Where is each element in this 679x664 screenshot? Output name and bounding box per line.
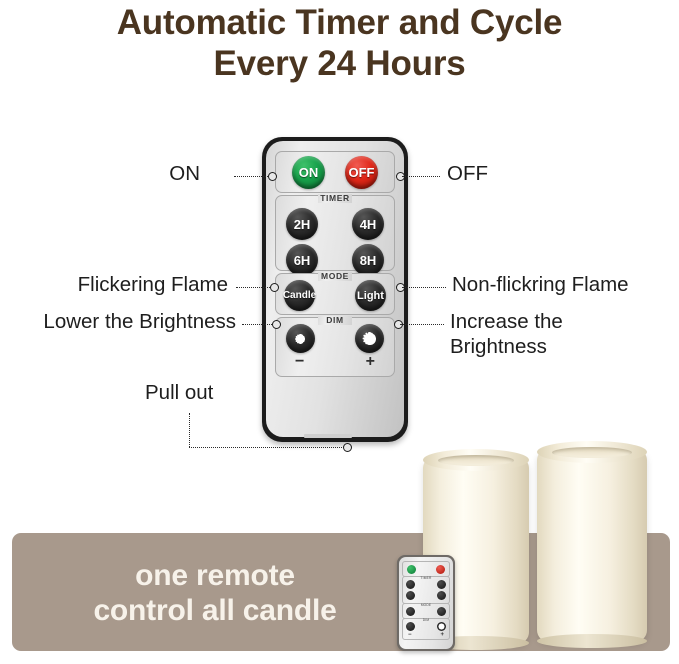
mini-dim-up-button xyxy=(437,622,446,631)
sun-large-icon xyxy=(359,328,381,350)
mini-2h-button xyxy=(406,580,415,589)
remote-face: ON OFF TIMER 2H 4H 6H 8H MODE Candle Lig… xyxy=(266,141,404,437)
title-line-1: Automatic Timer and Cycle xyxy=(117,3,563,42)
callout-pull-out-leader-vertical xyxy=(189,413,190,447)
on-button[interactable]: ON xyxy=(292,156,325,189)
mini-candle-button xyxy=(406,607,415,616)
mini-dim-down-button xyxy=(406,622,415,631)
sun-small-icon xyxy=(290,328,312,350)
callout-increase-brightness-line-2: Brightness xyxy=(450,334,563,359)
mode-section-label: MODE xyxy=(318,272,352,281)
mini-remote: TIMER MODE DIM − + xyxy=(397,555,455,651)
mini-on-button xyxy=(407,565,416,574)
callout-lower-brightness-label: Lower the Brightness xyxy=(0,309,236,334)
callout-lower-brightness-leader xyxy=(242,324,274,325)
callout-off-leader xyxy=(402,176,440,177)
mini-panel-onoff xyxy=(402,561,450,577)
callout-non-flickering-leader xyxy=(402,287,446,288)
off-button[interactable]: OFF xyxy=(345,156,378,189)
callout-on-anchor xyxy=(268,172,277,181)
timer-6h-button[interactable]: 6H xyxy=(286,244,318,276)
title-line-2: Every 24 Hours xyxy=(0,43,679,84)
remote-panel-mode: MODE Candle Light xyxy=(275,273,395,315)
callout-off-label: OFF xyxy=(447,161,488,186)
remote-panel-power: ON OFF xyxy=(275,151,395,193)
mini-light-button xyxy=(437,607,446,616)
battery-tab[interactable] xyxy=(304,434,352,438)
timer-4h-button[interactable]: 4H xyxy=(352,208,384,240)
mini-off-button xyxy=(436,565,445,574)
candle-base xyxy=(537,634,647,648)
dim-down-button[interactable] xyxy=(286,324,315,353)
callout-lower-brightness-anchor xyxy=(272,320,281,329)
mini-8h-button xyxy=(437,591,446,600)
callout-pull-out-leader-horizontal xyxy=(189,447,344,448)
mini-6h-button xyxy=(406,591,415,600)
dim-minus-symbol: − xyxy=(295,354,304,370)
callout-flickering-flame-leader xyxy=(236,287,272,288)
banner-text: one remote control all candle xyxy=(0,558,430,628)
mini-panel-mode: MODE xyxy=(402,603,450,619)
mini-panel-timer: TIMER xyxy=(402,576,450,604)
callout-on-label: ON xyxy=(120,161,200,186)
timer-section-label: TIMER xyxy=(318,194,352,203)
remote-panel-dim: DIM − xyxy=(275,317,395,377)
timer-2h-button[interactable]: 2H xyxy=(286,208,318,240)
callout-increase-brightness-label: Increase the Brightness xyxy=(450,309,563,359)
candle-wax-well xyxy=(552,447,631,458)
infographic-canvas: Automatic Timer and Cycle Every 24 Hours… xyxy=(0,0,679,664)
dim-up-button[interactable] xyxy=(355,324,384,353)
timer-8h-button[interactable]: 8H xyxy=(352,244,384,276)
mini-minus-symbol: − xyxy=(408,632,412,638)
callout-increase-brightness-leader xyxy=(400,324,444,325)
dim-section-label: DIM xyxy=(318,316,352,325)
mini-remote-face: TIMER MODE DIM − + xyxy=(399,557,453,649)
callout-increase-brightness-line-1: Increase the xyxy=(450,309,563,334)
callout-on-leader xyxy=(234,176,270,177)
callout-pull-out-label: Pull out xyxy=(145,380,213,405)
banner-line-2: control all candle xyxy=(0,593,430,628)
remote-control: ON OFF TIMER 2H 4H 6H 8H MODE Candle Lig… xyxy=(262,137,408,442)
page-title: Automatic Timer and Cycle Every 24 Hours xyxy=(0,2,679,84)
mini-panel-dim: DIM − + xyxy=(402,618,450,640)
callout-flickering-flame-label: Flickering Flame xyxy=(10,272,228,297)
candle-wax-well xyxy=(438,455,514,466)
callout-pull-out-anchor xyxy=(343,443,352,452)
banner-line-1: one remote xyxy=(0,558,430,593)
mini-plus-symbol: + xyxy=(440,632,444,638)
candle-right xyxy=(537,450,647,642)
remote-panel-timer: TIMER 2H 4H 6H 8H xyxy=(275,195,395,271)
mode-light-button[interactable]: Light xyxy=(355,280,386,311)
dim-plus-symbol: + xyxy=(366,354,375,370)
mode-candle-button[interactable]: Candle xyxy=(284,280,315,311)
callout-flickering-flame-anchor xyxy=(270,283,279,292)
callout-non-flickering-label: Non-flickring Flame xyxy=(452,272,629,297)
mini-4h-button xyxy=(437,580,446,589)
